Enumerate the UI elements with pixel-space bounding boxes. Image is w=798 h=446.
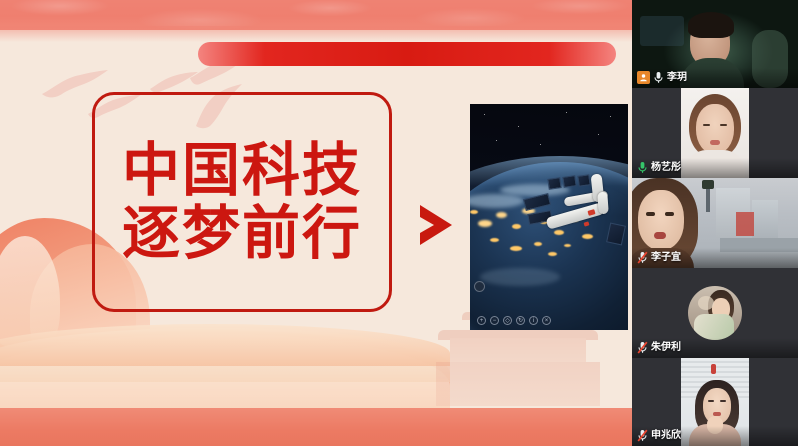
participant-name: 申兆欣 [651, 431, 681, 441]
node-module [597, 192, 609, 215]
mic-off-icon [637, 251, 648, 264]
space-station-image[interactable]: + − ◇ ↻ i × [470, 104, 628, 330]
participant-label: 朱伊利 [637, 341, 681, 354]
solar-panel [577, 174, 590, 187]
space-station [530, 170, 628, 280]
mic-off-icon [637, 341, 648, 354]
participant-name: 李玥 [667, 73, 687, 83]
participant-tile[interactable]: 杨艺彤 [632, 88, 798, 178]
meeting-screen-share-view: 中国科技 逐梦前行 [0, 0, 798, 446]
flag-marking [584, 221, 590, 226]
participant-label: 杨艺彤 [637, 161, 681, 174]
cloud-layer [0, 324, 450, 366]
zoom-out-icon[interactable]: − [490, 316, 499, 325]
participant-name: 朱伊利 [651, 343, 681, 353]
title-line-2: 逐梦前行 [122, 203, 362, 264]
rotate-icon[interactable]: ↻ [516, 316, 525, 325]
image-toolbar[interactable]: + − ◇ ↻ i × [474, 314, 554, 327]
zoom-in-icon[interactable]: + [477, 316, 486, 325]
participant-label: 申兆欣 [637, 429, 681, 442]
participant-label: 李玥 [637, 71, 687, 84]
info-icon[interactable]: i [529, 316, 538, 325]
solar-panel [562, 175, 576, 188]
participant-name: 杨艺彤 [651, 163, 681, 173]
mic-on-icon [653, 71, 664, 84]
image-handle[interactable] [474, 281, 485, 292]
title-line-1: 中国科技 [122, 140, 362, 201]
participant-tile[interactable]: 李子宜 [632, 178, 798, 268]
avatar [688, 286, 742, 340]
participant-label: 李子宜 [637, 251, 681, 264]
solar-panel [547, 177, 561, 190]
title-block: 中国科技 逐梦前行 [92, 92, 392, 312]
participant-tile[interactable]: 申兆欣 [632, 358, 798, 446]
mic-off-icon [637, 429, 648, 442]
remove-icon[interactable]: × [542, 316, 551, 325]
participant-tile[interactable]: 朱伊利 [632, 268, 798, 358]
chevron-right-icon [414, 200, 458, 250]
crop-icon[interactable]: ◇ [503, 316, 512, 325]
mic-on-icon [637, 161, 648, 174]
solar-panel [606, 223, 626, 246]
participant-rail[interactable]: 李玥 杨艺彤 [632, 0, 798, 446]
header-accent-bar [198, 42, 616, 66]
participant-tile[interactable]: 李玥 [632, 0, 798, 88]
shared-slide[interactable]: 中国科技 逐梦前行 [0, 0, 632, 446]
core-module [545, 202, 604, 230]
participant-name: 李子宜 [651, 253, 681, 263]
host-badge-icon [637, 71, 650, 84]
bottom-decor-band [0, 408, 632, 446]
